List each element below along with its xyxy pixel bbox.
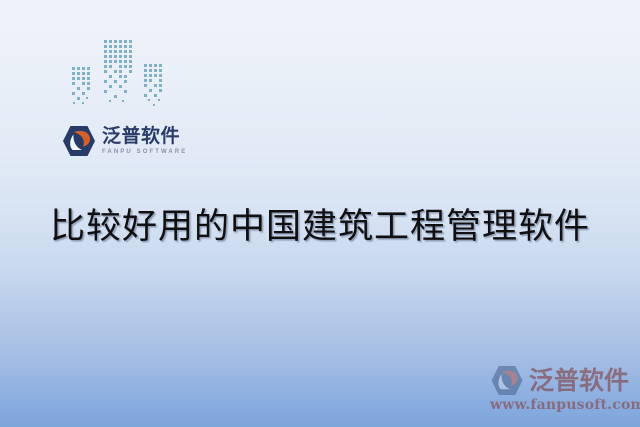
watermark-url: www.fanpusoft.com	[490, 397, 632, 413]
slide-canvas: 泛普软件 FANPU SOFTWARE 比较好用的中国建筑工程管理软件 泛普软件…	[0, 0, 640, 427]
logo-name-en: FANPU SOFTWARE	[102, 149, 187, 155]
fanpu-logo: 泛普软件 FANPU SOFTWARE	[62, 120, 187, 162]
fanpu-hexagon-swoosh-icon	[490, 365, 524, 396]
watermark-name-cn: 泛普软件	[529, 368, 629, 393]
brand-block: 泛普软件 FANPU SOFTWARE	[62, 34, 187, 162]
pixel-city-skyline-icon	[62, 34, 187, 116]
logo-wordmark: 泛普软件 FANPU SOFTWARE	[102, 127, 187, 155]
page-title: 比较好用的中国建筑工程管理软件	[0, 198, 640, 249]
logo-name-cn: 泛普软件	[102, 127, 187, 146]
watermark-lockup: 泛普软件	[490, 365, 632, 396]
watermark: 泛普软件 www.fanpusoft.com	[490, 365, 632, 413]
fanpu-hexagon-swoosh-icon	[62, 125, 96, 157]
